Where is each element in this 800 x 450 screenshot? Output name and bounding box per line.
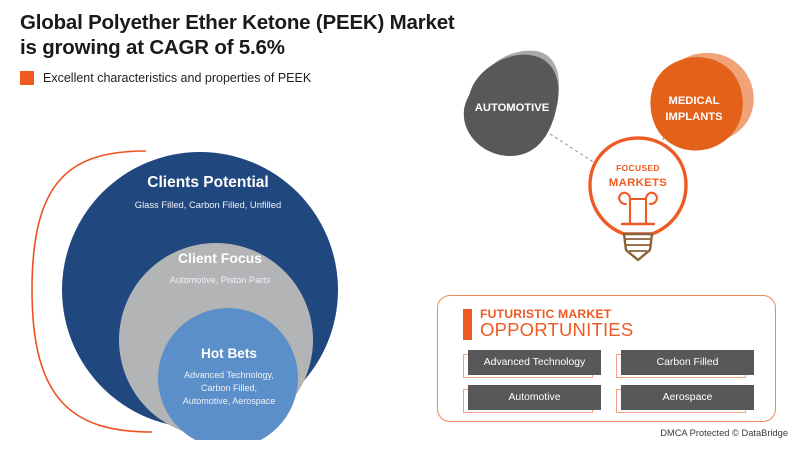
opportunity-label: Advanced Technology: [484, 357, 585, 368]
medical-label-line2: IMPLANTS: [665, 111, 723, 123]
inner-circle-subtitle-2: Carbon Filled,: [201, 383, 257, 393]
opportunity-label: Automotive: [509, 392, 561, 403]
concentric-circles-diagram: Clients Potential Glass Filled, Carbon F…: [30, 140, 380, 440]
focused-markets-diagram: AUTOMOTIVE MEDICAL IMPLANTS: [440, 46, 800, 296]
outer-circle-subtitle: Glass Filled, Carbon Filled, Unfilled: [135, 199, 281, 210]
opportunity-box[interactable]: Carbon Filled: [621, 350, 754, 375]
middle-circle-subtitle: Automotive, Piston Parts: [170, 275, 271, 285]
opportunity-item[interactable]: Automotive: [463, 385, 602, 411]
inner-circle-subtitle-1: Advanced Technology,: [184, 370, 274, 380]
automotive-label: AUTOMOTIVE: [475, 102, 550, 114]
bulb-label-top: FOCUSED: [616, 163, 660, 173]
page-title-line2: is growing at CAGR of 5.6%: [20, 35, 450, 60]
opportunity-label: Carbon Filled: [657, 357, 719, 368]
lightbulb-base: [624, 234, 652, 260]
page-title-line1: Global Polyether Ether Ketone (PEEK) Mar…: [20, 10, 450, 35]
footer-copyright: DMCA Protected © DataBridge: [660, 428, 788, 438]
lightbulb-icon: [590, 138, 686, 260]
header: Global Polyether Ether Ketone (PEEK) Mar…: [20, 10, 450, 85]
inner-circle-title: Hot Bets: [201, 346, 257, 361]
opportunities-heading-line2: OPPORTUNITIES: [480, 321, 633, 340]
outer-circle-title: Clients Potential: [147, 174, 268, 191]
opportunity-box[interactable]: Advanced Technology: [468, 350, 601, 375]
legend: Excellent characteristics and properties…: [20, 71, 450, 85]
futuristic-market-opportunities-panel: FUTURISTIC MARKET OPPORTUNITIES Advanced…: [437, 295, 776, 422]
legend-label: Excellent characteristics and properties…: [43, 71, 311, 85]
middle-circle-title: Client Focus: [178, 250, 262, 266]
infographic-canvas: Global Polyether Ether Ketone (PEEK) Mar…: [0, 0, 800, 450]
opportunity-item[interactable]: Advanced Technology: [463, 350, 602, 376]
opportunity-box[interactable]: Automotive: [468, 385, 601, 410]
medical-label-line1: MEDICAL: [669, 95, 720, 107]
opportunity-item[interactable]: Carbon Filled: [616, 350, 755, 376]
legend-swatch-icon: [20, 71, 34, 85]
opportunity-item[interactable]: Aerospace: [616, 385, 755, 411]
inner-circle-subtitle-3: Automotive, Aerospace: [183, 396, 276, 406]
opportunities-list: Advanced Technology Carbon Filled Automo…: [463, 350, 755, 411]
opportunities-heading: FUTURISTIC MARKET OPPORTUNITIES: [463, 308, 633, 340]
accent-bar-icon: [463, 309, 472, 340]
opportunity-box[interactable]: Aerospace: [621, 385, 754, 410]
opportunity-label: Aerospace: [663, 392, 713, 403]
bulb-label-bottom: MARKETS: [609, 177, 668, 189]
